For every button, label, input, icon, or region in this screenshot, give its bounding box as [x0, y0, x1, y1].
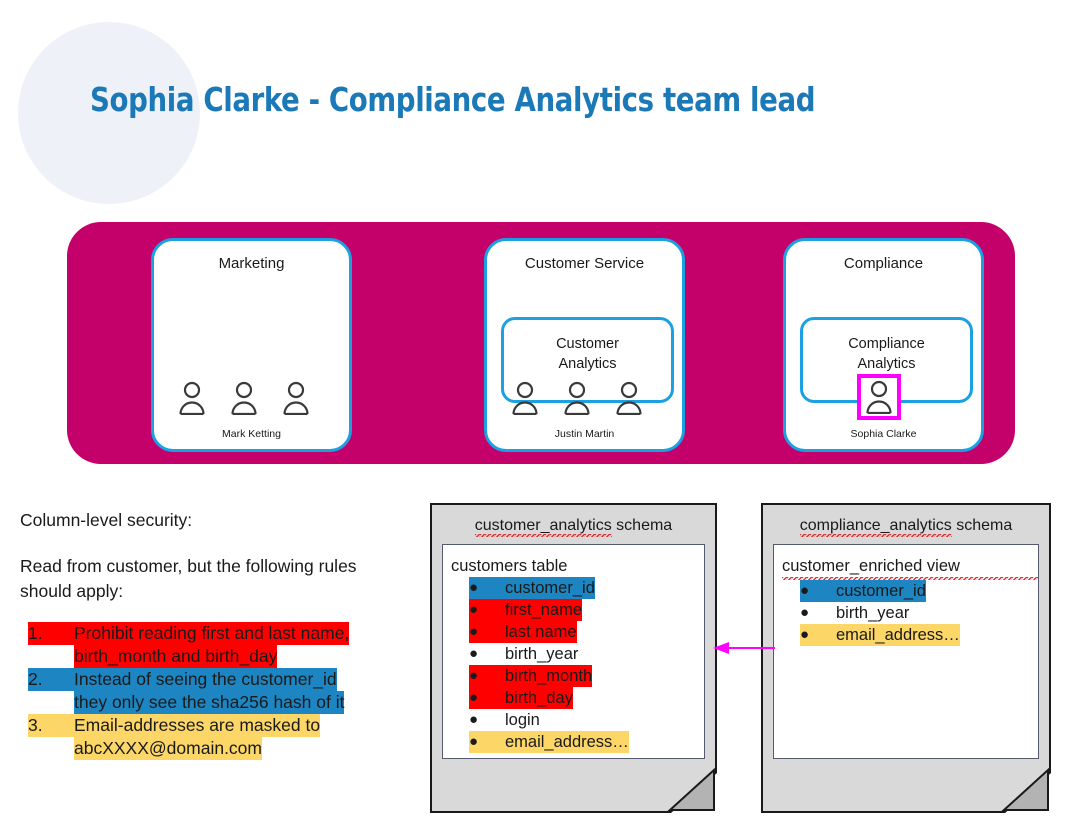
person-icon-glyph	[510, 381, 540, 415]
person-icon	[177, 381, 207, 415]
department-title: Customer Service	[487, 255, 682, 272]
schema-connector-arrow	[713, 641, 775, 655]
rule-line: Instead of seeing the customer_id	[74, 668, 337, 691]
bullet-icon: ●	[469, 687, 483, 709]
highlighted-person-box[interactable]	[857, 374, 901, 420]
person-icon	[510, 381, 540, 415]
person-icon-glyph	[229, 381, 259, 415]
person-name-label: Sophia Clarke	[786, 428, 981, 440]
person-icon-glyph	[177, 381, 207, 415]
department-card-marketing[interactable]: Marketing Mark Ketting	[151, 238, 352, 452]
department-title: Marketing	[154, 255, 349, 272]
rule-number: 3.	[28, 714, 74, 737]
left-arrow-icon	[713, 641, 775, 655]
person-name-label: Mark Ketting	[154, 428, 349, 440]
bullet-icon: ●	[469, 621, 483, 643]
schema-name-misspelled: compliance_analytics	[800, 517, 952, 537]
column-row: ●birth_day	[469, 687, 704, 709]
column-row: ●birth_year	[800, 602, 1038, 624]
person-icon	[281, 381, 311, 415]
rule-number: 1.	[28, 622, 74, 645]
column-row: ●customer_id	[800, 580, 1038, 602]
column-name: customer_id	[483, 577, 595, 599]
column-row: ●birth_year	[469, 643, 704, 665]
sub-team-label: Compliance Analytics	[803, 334, 970, 374]
person-row	[510, 381, 644, 415]
department-title: Compliance	[786, 255, 981, 272]
rule-number: 2.	[28, 668, 74, 691]
schema-title-suffix: schema	[612, 517, 672, 534]
rule-line: they only see the sha256 hash of it	[74, 691, 344, 714]
bullet-icon: ●	[469, 731, 483, 753]
schema-title-suffix: schema	[952, 517, 1012, 534]
column-name: birth_month	[483, 665, 592, 687]
column-row: ●first_name	[469, 599, 704, 621]
column-name: first_name	[483, 599, 582, 621]
department-card-customer-service[interactable]: Customer Service Customer Analytics	[484, 238, 685, 452]
rules-list: 1. Prohibit reading first and last name,…	[28, 622, 418, 760]
rule-line: Email-addresses are masked to	[74, 714, 320, 737]
column-row: ●email_address…	[800, 624, 1038, 646]
person-icon	[562, 381, 592, 415]
bullet-icon: ●	[469, 577, 483, 599]
notes-heading: Column-level security:	[20, 508, 412, 533]
rule-line: birth_month and birth_day	[74, 645, 277, 668]
bullet-icon: ●	[469, 709, 483, 731]
rule-item: 1. Prohibit reading first and last name,…	[28, 622, 418, 668]
column-name: last name	[483, 621, 577, 643]
person-icon-glyph	[864, 380, 894, 414]
column-list: ●customer_id ●first_name ●last name ●bir…	[443, 577, 704, 753]
schema-title: customer_analytics schema	[432, 517, 715, 535]
bullet-icon: ●	[469, 599, 483, 621]
schema-document-compliance-analytics[interactable]: compliance_analytics schema customer_enr…	[761, 503, 1051, 813]
bullet-icon: ●	[800, 624, 814, 646]
rule-text: Instead of seeing the customer_id they o…	[74, 668, 344, 714]
bullet-icon: ●	[800, 602, 814, 624]
column-list: ●customer_id ●birth_year ●email_address…	[774, 580, 1038, 646]
person-icon-glyph	[614, 381, 644, 415]
schema-title: compliance_analytics schema	[763, 517, 1049, 535]
column-row: ●birth_month	[469, 665, 704, 687]
notes-body-line-2: should apply:	[20, 579, 412, 604]
column-name: birth_day	[483, 687, 573, 709]
rule-text: Prohibit reading first and last name, bi…	[74, 622, 349, 668]
schema-inner-panel: customers table ●customer_id ●first_name…	[442, 544, 705, 759]
column-name: email_address…	[483, 731, 629, 753]
rule-line: Prohibit reading first and last name,	[74, 622, 349, 645]
bullet-icon: ●	[469, 665, 483, 687]
rule-item: 2. Instead of seeing the customer_id the…	[28, 668, 418, 714]
schema-inner-panel: customer_enriched view ●customer_id ●bir…	[773, 544, 1039, 759]
department-card-compliance[interactable]: Compliance Compliance Analytics Sophia C…	[783, 238, 984, 452]
column-name: login	[483, 709, 540, 731]
rule-text: Email-addresses are masked to abcXXXX@do…	[74, 714, 320, 760]
schema-name-misspelled: customer_analytics	[475, 517, 612, 537]
page-fold-cut	[671, 773, 717, 813]
column-row: ●email_address…	[469, 731, 704, 753]
person-icon-glyph	[562, 381, 592, 415]
bullet-icon: ●	[800, 580, 814, 602]
column-row: ●customer_id	[469, 577, 704, 599]
column-row: ●login	[469, 709, 704, 731]
page-title: Sophia Clarke - Compliance Analytics tea…	[90, 80, 815, 119]
column-name: birth_year	[814, 602, 909, 624]
rule-item: 3. Email-addresses are masked to abcXXXX…	[28, 714, 418, 760]
column-name: birth_year	[483, 643, 578, 665]
schema-document-customer-analytics[interactable]: customer_analytics schema customers tabl…	[430, 503, 717, 813]
column-row: ●last name	[469, 621, 704, 643]
rule-line: abcXXXX@domain.com	[74, 737, 262, 760]
column-name: email_address…	[814, 624, 960, 646]
bullet-icon: ●	[469, 643, 483, 665]
person-icon	[614, 381, 644, 415]
object-name: customer_enriched view	[782, 555, 1038, 580]
page-fold-cut	[1005, 773, 1051, 813]
person-row	[177, 381, 311, 415]
object-name: customers table	[451, 555, 704, 577]
person-name-label: Justin Martin	[487, 428, 682, 440]
notes-block: Column-level security: Read from custome…	[20, 508, 412, 604]
column-name: customer_id	[814, 580, 926, 602]
person-icon-glyph	[281, 381, 311, 415]
sub-team-label: Customer Analytics	[504, 334, 671, 374]
person-icon	[229, 381, 259, 415]
notes-body-line-1: Read from customer, but the following ru…	[20, 554, 412, 579]
